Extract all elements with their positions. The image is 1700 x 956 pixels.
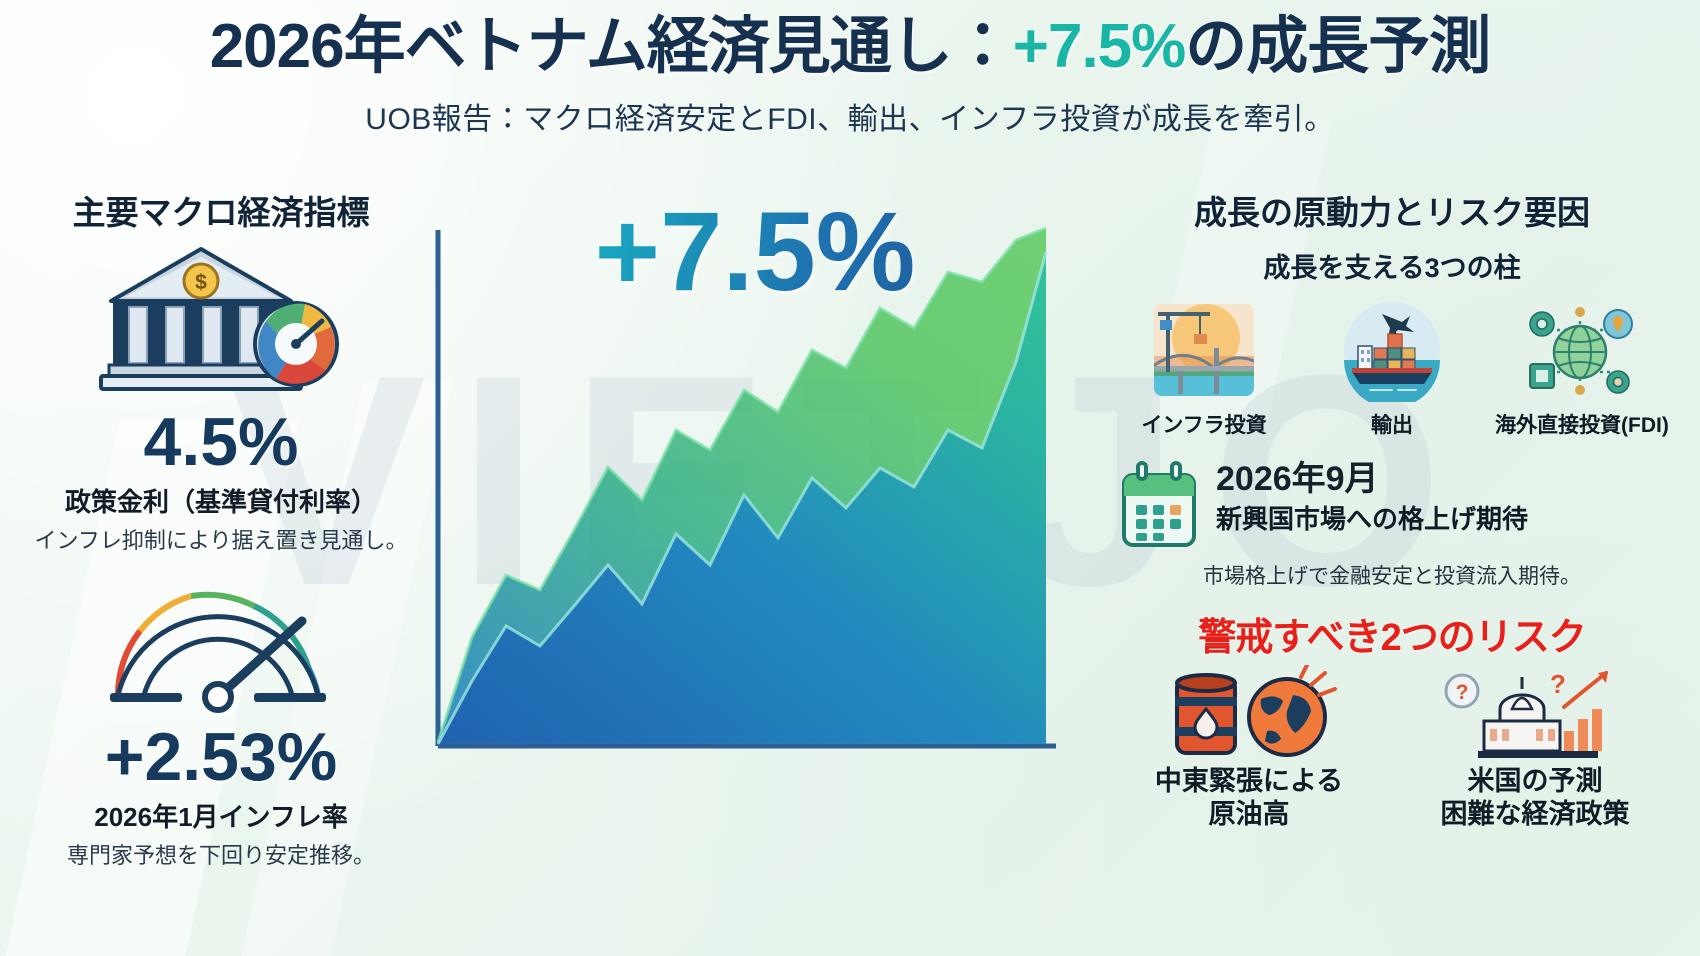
svg-text:?: ?: [1550, 669, 1566, 699]
metric-inflation: +2.53% 2026年1月インフレ率 専門家予想を下回り安定推移。: [26, 573, 416, 870]
pillar-fdi: 海外直接投資(FDI): [1495, 295, 1665, 439]
page-title-pre: 2026年ベトナム経済見通し：: [210, 12, 1013, 81]
metric-inflation-note: 専門家予想を下回り安定推移。: [26, 838, 416, 870]
market-upgrade-headline: 新興国市場への格上げ期待: [1216, 499, 1692, 536]
market-upgrade-date: 2026年9月: [1216, 461, 1692, 498]
risk-us-policy-line1: 米国の予測: [1410, 765, 1660, 798]
pillar-exports-label: 輸出: [1307, 409, 1477, 439]
speedometer-gauge-icon: [26, 573, 416, 723]
header: 2026年ベトナム経済見通し：+7.5%の成長予測 UOB報告：マクロ経済安定と…: [0, 14, 1700, 138]
market-upgrade-block: 2026年9月 新興国市場への格上げ期待: [1092, 461, 1692, 556]
left-column: 主要マクロ経済指標 $: [26, 186, 416, 870]
pillars-heading: 成長を支える3つの柱: [1092, 246, 1692, 285]
cargo-ship-plane-icon: [1307, 295, 1477, 405]
risk-oil-price-line1: 中東緊張による: [1124, 765, 1374, 798]
page-title: 2026年ベトナム経済見通し：+7.5%の成長予測: [0, 14, 1700, 80]
oil-barrel-globe-icon: [1124, 663, 1374, 763]
pillar-fdi-label: 海外直接投資(FDI): [1495, 409, 1665, 439]
market-upgrade-text: 2026年9月 新興国市場への格上げ期待: [1216, 461, 1692, 536]
globe-network-icon: [1495, 295, 1665, 405]
right-column-heading: 成長の原動力とリスク要因: [1092, 186, 1692, 234]
market-upgrade-note: 市場格上げで金融安定と投資流入期待。: [1092, 560, 1692, 590]
pillar-infrastructure: インフラ投資: [1119, 295, 1289, 439]
svg-text:?: ?: [1456, 681, 1469, 704]
metric-inflation-value: +2.53%: [26, 723, 416, 791]
capitol-uncertainty-icon: ? ?: [1410, 663, 1660, 763]
calendar-icon: [1116, 461, 1202, 556]
metric-policy-rate-value: 4.5%: [26, 408, 416, 476]
pillar-exports: 輸出: [1307, 295, 1477, 439]
growth-pillars: インフラ投資: [1092, 295, 1692, 439]
right-column: 成長の原動力とリスク要因 成長を支える3つの柱: [1092, 186, 1692, 831]
bridge-crane-icon: [1119, 295, 1289, 405]
risk-oil-price: 中東緊張による 原油高: [1124, 663, 1374, 831]
risk-us-policy-line2: 困難な経済政策: [1410, 798, 1660, 831]
page-title-accent: +7.5%: [1013, 12, 1186, 81]
left-column-heading: 主要マクロ経済指標: [26, 186, 416, 234]
infographic-canvas: VIETJO 2026年ベトナム経済見通し：+7.5%の成長予測 UOB報告：マ…: [0, 0, 1700, 956]
page-title-post: の成長予測: [1185, 12, 1490, 81]
bank-gauge-icon: $: [26, 238, 416, 408]
risk-oil-price-line2: 原油高: [1124, 798, 1374, 831]
risk-us-policy: ? ?: [1410, 663, 1660, 831]
metric-policy-rate-label: 政策金利（基準貸付利率）: [26, 482, 416, 519]
risks-heading: 警戒すべき2つのリスク: [1092, 606, 1692, 661]
metric-policy-rate: $: [26, 238, 416, 555]
risk-list: 中東緊張による 原油高 ? ?: [1092, 663, 1692, 831]
metric-policy-rate-note: インフレ抑制により据え置き見通し。: [26, 523, 416, 555]
headline-growth-value: +7.5%: [430, 196, 1080, 308]
svg-text:$: $: [195, 271, 207, 294]
metric-inflation-label: 2026年1月インフレ率: [26, 797, 416, 834]
pillar-infrastructure-label: インフラ投資: [1119, 409, 1289, 439]
page-subtitle: UOB報告：マクロ経済安定とFDI、輸出、インフラ投資が成長を牽引。: [0, 94, 1700, 138]
risk-us-policy-label: 米国の予測 困難な経済政策: [1410, 765, 1660, 831]
risk-oil-price-label: 中東緊張による 原油高: [1124, 765, 1374, 831]
